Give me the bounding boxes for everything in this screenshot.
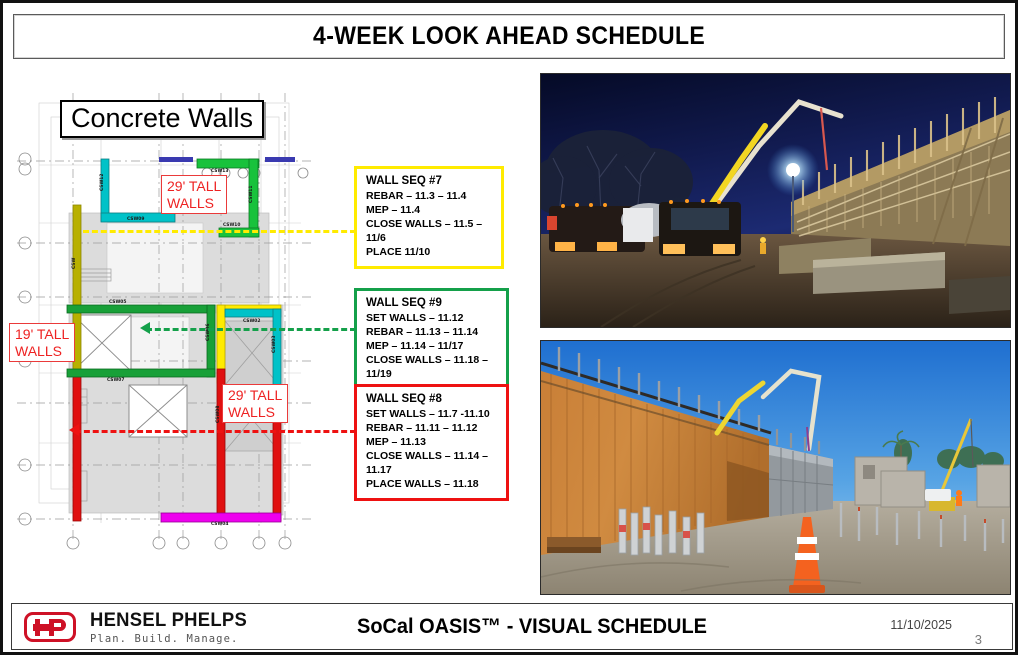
callout-line: MEP – 11.13 bbox=[366, 435, 499, 449]
slide-footer: HENSEL PHELPS Plan. Build. Manage. SoCal… bbox=[11, 603, 1013, 650]
svg-text:CSW08: CSW08 bbox=[215, 406, 221, 423]
slide-canvas: 4-WEEK LOOK AHEAD SCHEDULE bbox=[0, 0, 1018, 655]
callout-title: WALL SEQ #7 bbox=[366, 175, 494, 187]
label-29ft-tall-walls-mid: 29' TALL WALLS bbox=[222, 384, 288, 423]
svg-text:CSW13: CSW13 bbox=[211, 168, 228, 174]
callout-line: REBAR – 11.3 – 11.4 bbox=[366, 189, 494, 203]
callout-line: PLACE WALLS – 11.18 bbox=[366, 477, 499, 491]
photo-daytime-formwork-wall bbox=[540, 340, 1011, 595]
page-title: 4-WEEK LOOK AHEAD SCHEDULE bbox=[313, 22, 705, 51]
callout-line: CLOSE WALLS – 11.18 – 11/19 bbox=[366, 353, 499, 381]
callout-wall-seq-7: WALL SEQ #7 REBAR – 11.3 – 11.4 MEP – 11… bbox=[354, 166, 504, 269]
footer-page-number: 3 bbox=[975, 632, 982, 647]
leader-arrow-green-icon bbox=[140, 322, 150, 334]
svg-text:CSW05: CSW05 bbox=[109, 299, 126, 305]
callout-title: WALL SEQ #9 bbox=[366, 297, 499, 309]
photo-night-concrete-pour bbox=[540, 73, 1011, 328]
footer-title: SoCal OASIS™ - VISUAL SCHEDULE bbox=[333, 615, 732, 639]
callout-line: REBAR – 11.13 – 11.14 bbox=[366, 325, 499, 339]
slide-title-box: 4-WEEK LOOK AHEAD SCHEDULE bbox=[13, 14, 1005, 59]
svg-text:CSW09: CSW09 bbox=[127, 216, 144, 222]
leader-line-green bbox=[146, 328, 356, 331]
hp-monogram-icon bbox=[24, 612, 76, 642]
callout-title: WALL SEQ #8 bbox=[366, 393, 499, 405]
company-name: HENSEL PHELPS bbox=[90, 610, 247, 632]
callout-line: MEP – 11.4 bbox=[366, 203, 494, 217]
svg-text:CSW11: CSW11 bbox=[248, 186, 254, 203]
svg-text:CSW03: CSW03 bbox=[271, 336, 277, 353]
svg-text:CSW02: CSW02 bbox=[243, 318, 260, 324]
callout-line: MEP – 11.14 – 11/17 bbox=[366, 339, 499, 353]
company-tagline: Plan. Build. Manage. bbox=[90, 633, 252, 645]
floor-plan-drawing: CSW12 CSW09 CSW13 CSW11 CSW10 CSW05 CSW0… bbox=[11, 73, 321, 563]
callout-line: SET WALLS – 11.12 bbox=[366, 311, 499, 325]
callout-line: REBAR – 11.11 – 11.12 bbox=[366, 421, 499, 435]
plan-title: Concrete Walls bbox=[60, 100, 264, 138]
callout-line: CLOSE WALLS – 11.14 – 11.17 bbox=[366, 449, 499, 477]
footer-date: 11/10/2025 bbox=[890, 618, 952, 632]
label-19ft-tall-walls: 19' TALL WALLS bbox=[9, 323, 75, 362]
svg-text:CSW: CSW bbox=[71, 258, 77, 269]
floor-plan-svg: CSW12 CSW09 CSW13 CSW11 CSW10 CSW05 CSW0… bbox=[11, 73, 321, 563]
svg-text:CSW12: CSW12 bbox=[99, 174, 105, 191]
wall-segment-red-left bbox=[73, 373, 81, 521]
label-29ft-tall-walls-top: 29' TALL WALLS bbox=[161, 175, 227, 214]
company-branding: HENSEL PHELPS Plan. Build. Manage. bbox=[90, 610, 252, 645]
wall-segment-magenta bbox=[161, 513, 281, 522]
svg-text:CSW06: CSW06 bbox=[205, 324, 211, 341]
leader-line-yellow bbox=[83, 230, 356, 233]
svg-text:CSW10: CSW10 bbox=[223, 222, 240, 228]
callout-line: CLOSE WALLS – 11.5 – 11/6 bbox=[366, 217, 494, 245]
callout-line: SET WALLS – 11.7 -11.10 bbox=[366, 407, 499, 421]
callout-line: PLACE 11/10 bbox=[366, 245, 494, 259]
leader-arrow-red-icon bbox=[69, 424, 79, 436]
svg-text:CSW04: CSW04 bbox=[211, 521, 228, 527]
leader-line-red bbox=[75, 430, 356, 433]
callout-wall-seq-8: WALL SEQ #8 SET WALLS – 11.7 -11.10 REBA… bbox=[354, 384, 509, 501]
svg-text:CSW07: CSW07 bbox=[107, 377, 124, 383]
